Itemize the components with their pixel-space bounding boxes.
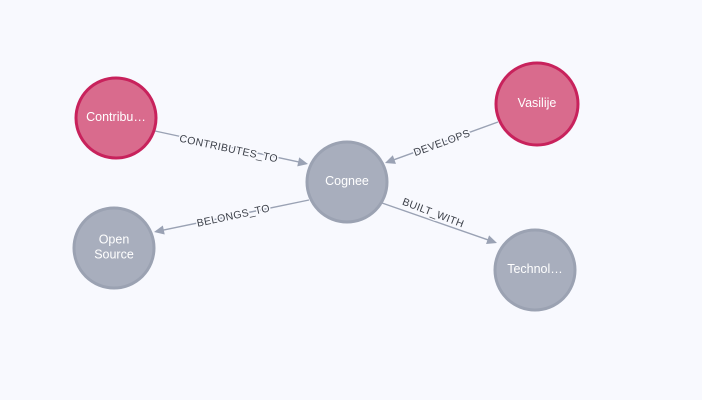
node-label-line: Open [99,233,130,247]
graph-node-contributor[interactable]: Contribu… [76,78,156,158]
node-label-line: Contribu… [86,110,146,124]
graph-node-vasilije[interactable]: Vasilije [496,63,578,145]
edge-arrowhead-contributes-to [297,157,308,166]
node-label-contributor: Contribu… [86,110,146,124]
edge-arrowhead-built-with [486,235,497,244]
edge-arrowhead-belongs-to [154,225,165,234]
node-label-technology: Technol… [507,262,563,276]
edge-label-contributes-to: CONTRIBUTES_TO [178,133,279,166]
node-label-line: Cognee [325,174,369,188]
graph-node-open-source[interactable]: OpenSource [74,208,154,288]
node-label-cognee: Cognee [325,174,369,188]
node-label-open-source: OpenSource [94,233,134,262]
nodes-layer: Contribu…VasilijeCogneeOpenSourceTechnol… [74,63,578,310]
graph-node-technology[interactable]: Technol… [495,230,575,310]
edge-arrowhead-develops [385,155,396,164]
node-label-line: Vasilije [518,96,557,110]
graph-node-cognee[interactable]: Cognee [307,142,387,222]
edge-label-develops: DEVELOPS [412,127,472,159]
graph-visualization[interactable]: CONTRIBUTES_TODEVELOPSBELONGS_TOBUILT_WI… [0,0,702,400]
edge-label-belongs-to: BELONGS_TO [196,202,271,229]
graph-canvas[interactable]: CONTRIBUTES_TODEVELOPSBELONGS_TOBUILT_WI… [0,0,702,400]
node-label-line: Technol… [507,262,563,276]
node-label-line: Source [94,248,134,262]
node-label-vasilije: Vasilije [518,96,557,110]
